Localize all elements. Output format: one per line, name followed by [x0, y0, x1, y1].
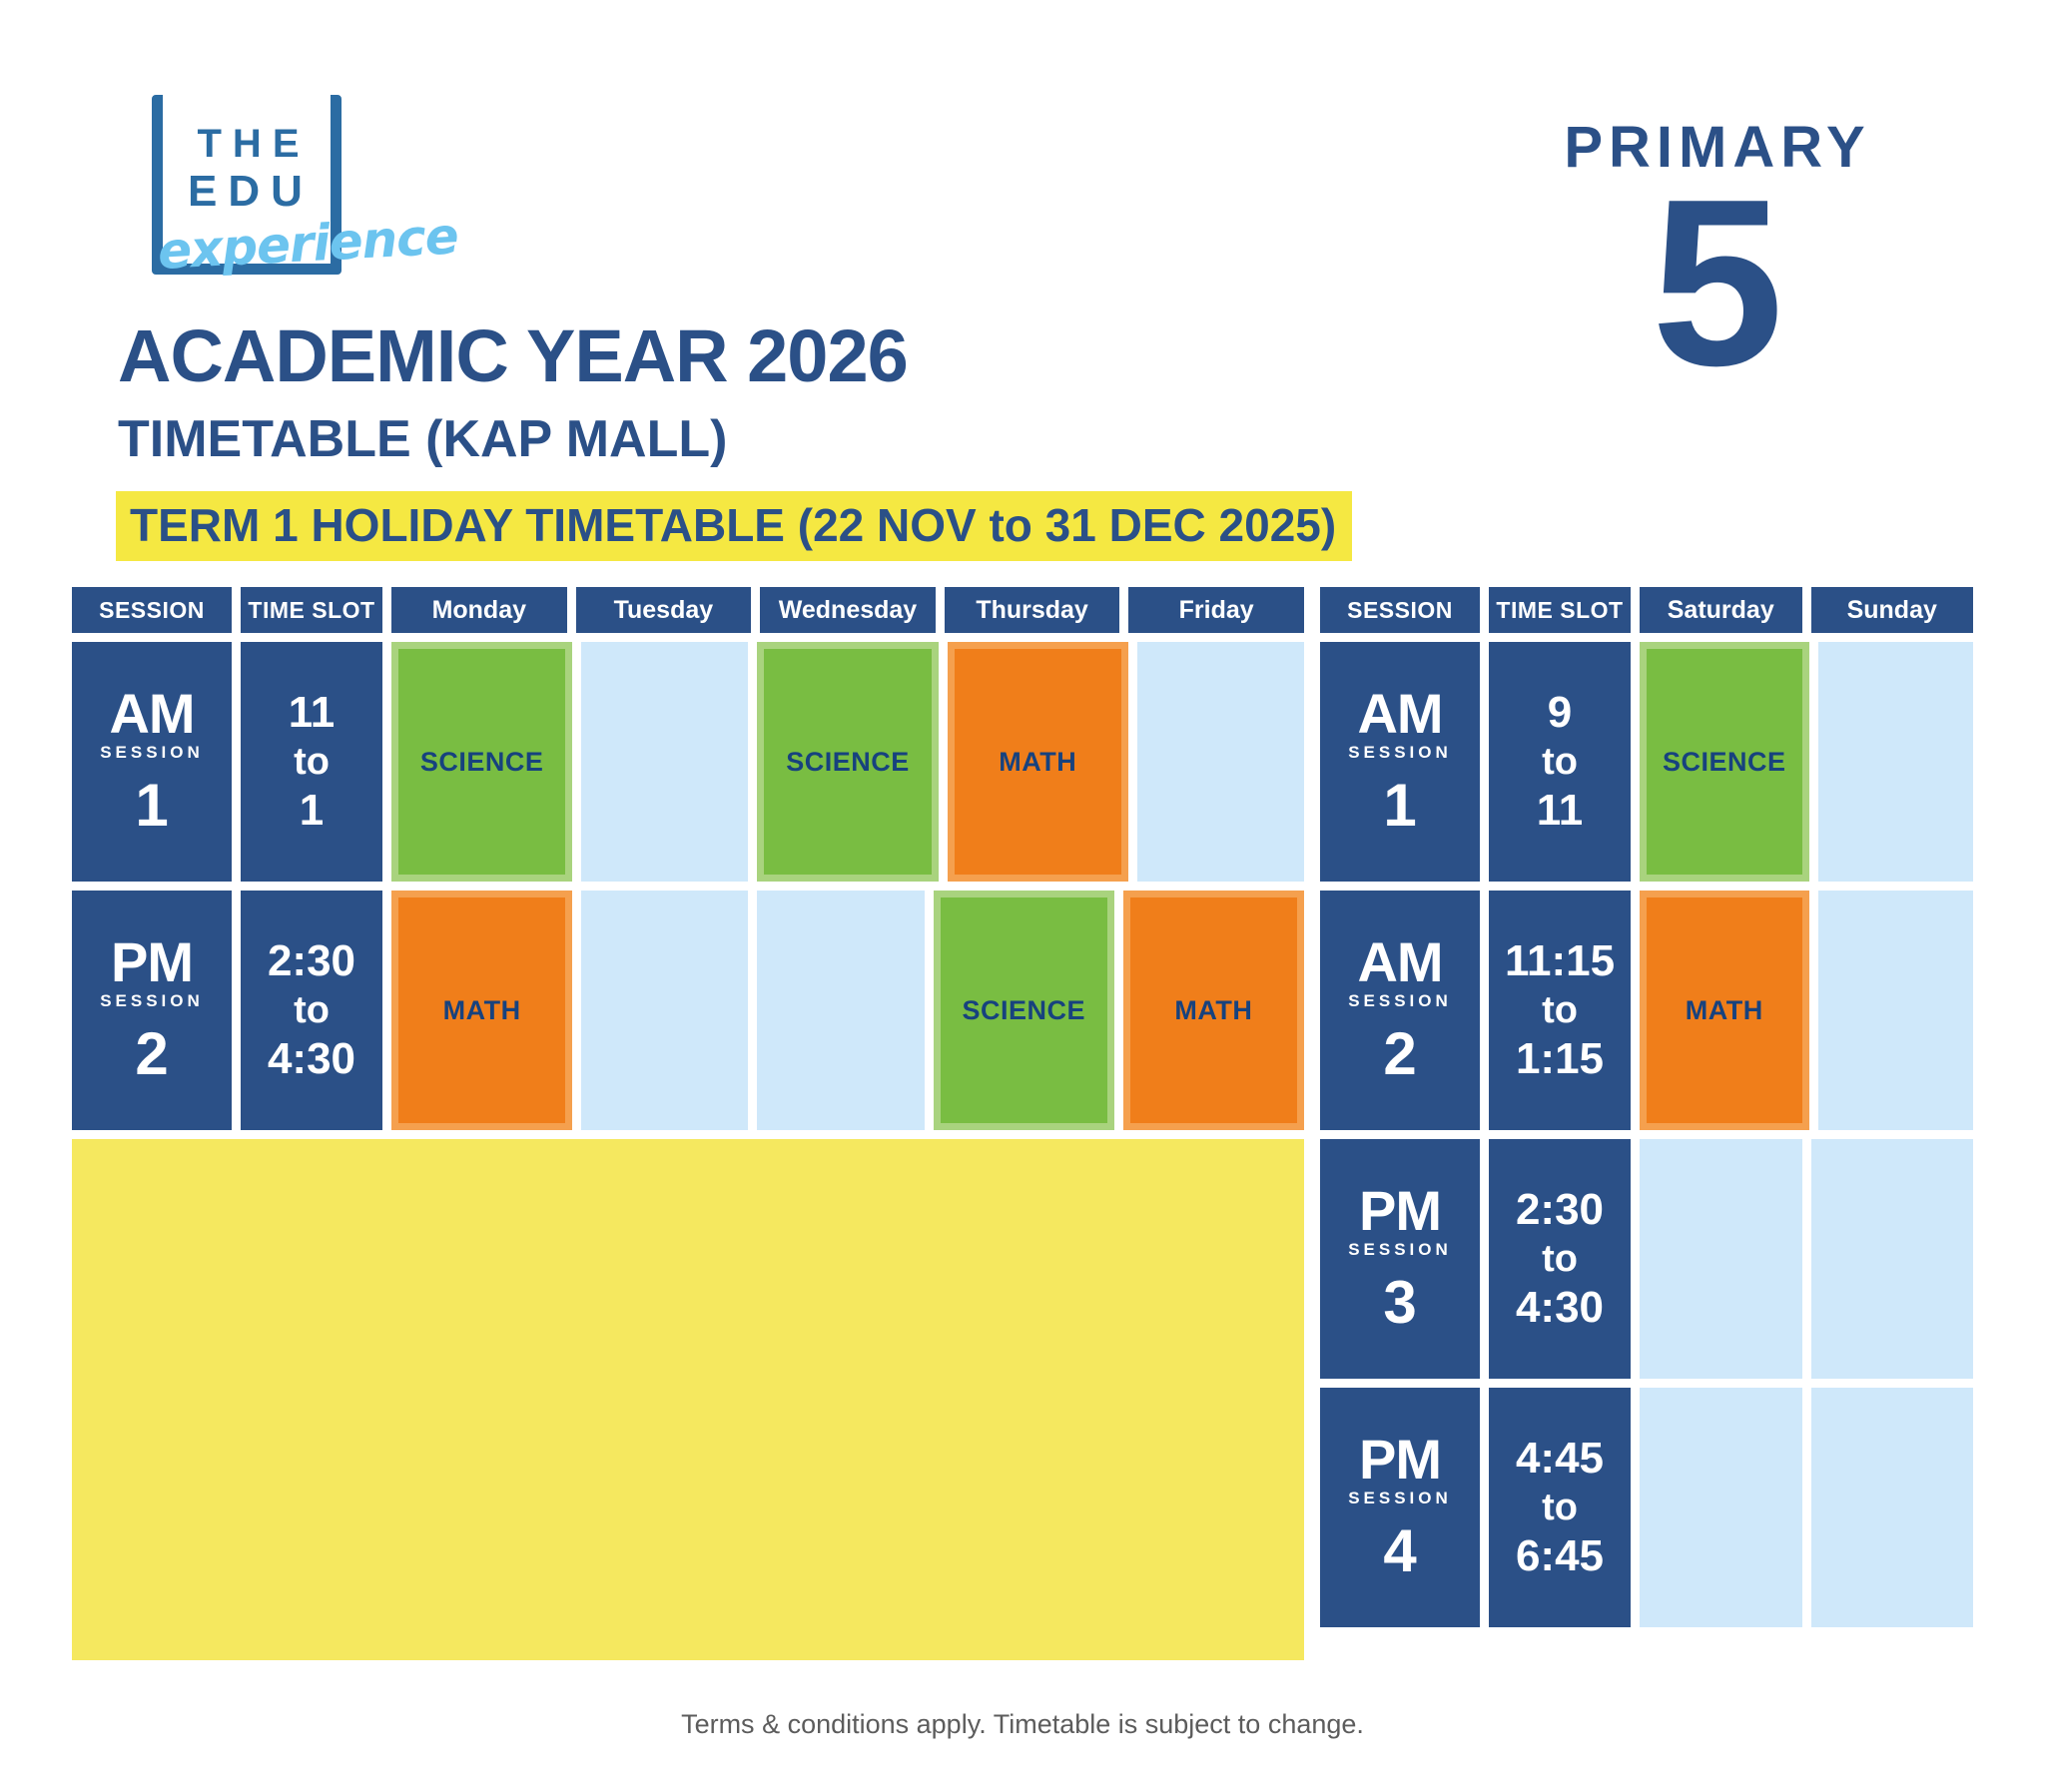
time-start: 4:45: [1516, 1434, 1604, 1484]
time-to: to: [1542, 986, 1578, 1034]
table-row: PM SESSION 2 2:30 to 4:30 MATH SCIENCE M…: [72, 891, 1304, 1130]
session-cell: PM SESSION 3: [1320, 1139, 1480, 1379]
footer-note: Terms & conditions apply. Timetable is s…: [0, 1709, 2045, 1740]
time-end: 11: [1537, 786, 1584, 836]
weekend-header-row: SESSION TIME SLOT Saturday Sunday: [1320, 587, 1973, 633]
time-end: 1: [300, 786, 324, 836]
subject-cell-friday[interactable]: [1137, 642, 1304, 882]
subject-cell-monday[interactable]: SCIENCE: [391, 642, 572, 882]
header-friday: Friday: [1128, 587, 1304, 633]
subtitle-branch: (KAP MALL): [425, 410, 727, 468]
subject-cell-wednesday[interactable]: SCIENCE: [757, 642, 938, 882]
subject-cell-saturday[interactable]: [1640, 1388, 1802, 1627]
session-cell: PM SESSION 4: [1320, 1388, 1480, 1627]
session-ampm: PM: [1359, 1185, 1441, 1237]
time-to: to: [294, 738, 330, 786]
subject-cell-sunday[interactable]: [1818, 891, 1974, 1130]
subject-cell-sunday[interactable]: [1818, 642, 1974, 882]
time-start: 11: [289, 688, 336, 738]
session-cell: PM SESSION 2: [72, 891, 232, 1130]
session-word: SESSION: [100, 990, 204, 1012]
subject-cell-friday[interactable]: MATH: [1123, 891, 1304, 1130]
session-ampm: PM: [1359, 1434, 1441, 1486]
session-word: SESSION: [1348, 1239, 1452, 1261]
time-end: 4:30: [268, 1034, 355, 1084]
time-to: to: [1542, 1235, 1578, 1283]
logo-text-experience: experience: [157, 211, 389, 281]
time-to: to: [1542, 738, 1578, 786]
time-slot-cell: 9 to 11: [1489, 642, 1631, 882]
subject-cell-wednesday[interactable]: [757, 891, 924, 1130]
grade-number: 5: [1508, 184, 1927, 383]
time-slot-cell: 2:30 to 4:30: [1489, 1139, 1631, 1379]
table-row: AM SESSION 1 11 to 1 SCIENCE SCIENCE MAT…: [72, 642, 1304, 882]
time-slot-cell: 11 to 1: [241, 642, 382, 882]
yellow-filler-block: [72, 1139, 1304, 1660]
time-end: 1:15: [1516, 1034, 1604, 1084]
time-start: 2:30: [1516, 1185, 1604, 1235]
session-number: 1: [1383, 776, 1416, 836]
session-ampm: AM: [1357, 936, 1442, 988]
header-monday: Monday: [391, 587, 567, 633]
subject-cell-tuesday[interactable]: [581, 642, 748, 882]
session-ampm: AM: [109, 688, 194, 740]
table-row: AM SESSION 1 9 to 11 SCIENCE: [1320, 642, 1973, 882]
subject-cell-sunday[interactable]: [1811, 1388, 1974, 1627]
time-start: 9: [1548, 688, 1572, 738]
session-number: 2: [135, 1024, 168, 1084]
time-slot-cell: 11:15 to 1:15: [1489, 891, 1631, 1130]
subject-cell-saturday[interactable]: MATH: [1640, 891, 1809, 1130]
logo-frame-gap: [163, 93, 331, 109]
subtitle-plain: TIMETABLE: [118, 410, 425, 468]
time-start: 2:30: [268, 936, 355, 986]
header-tuesday: Tuesday: [576, 587, 752, 633]
header-time-slot: TIME SLOT: [241, 587, 382, 633]
time-to: to: [294, 986, 330, 1034]
header-sunday: Sunday: [1811, 587, 1974, 633]
weekend-table: SESSION TIME SLOT Saturday Sunday AM SES…: [1320, 587, 1973, 1627]
time-to: to: [1542, 1484, 1578, 1531]
session-number: 4: [1383, 1521, 1416, 1581]
session-number: 3: [1383, 1273, 1416, 1333]
header-session: SESSION: [1320, 587, 1480, 633]
subject-cell-saturday[interactable]: [1640, 1139, 1802, 1379]
poster-header: THE EDU experience ACADEMIC YEAR 2026 TI…: [0, 0, 2045, 579]
grade-badge: PRIMARY 5: [1508, 118, 1927, 383]
session-number: 1: [135, 776, 168, 836]
time-end: 4:30: [1516, 1283, 1604, 1333]
session-cell: AM SESSION 2: [1320, 891, 1480, 1130]
logo-text-edu: EDU: [176, 169, 326, 215]
time-slot-cell: 4:45 to 6:45: [1489, 1388, 1631, 1627]
page-subtitle: TIMETABLE (KAP MALL): [118, 411, 727, 467]
time-start: 11:15: [1505, 936, 1615, 986]
weekday-header-row: SESSION TIME SLOT Monday Tuesday Wednesd…: [72, 587, 1304, 633]
weekday-table: SESSION TIME SLOT Monday Tuesday Wednesd…: [72, 587, 1304, 1660]
table-row: PM SESSION 4 4:45 to 6:45: [1320, 1388, 1973, 1627]
table-row: PM SESSION 3 2:30 to 4:30: [1320, 1139, 1973, 1379]
session-ampm: AM: [1357, 688, 1442, 740]
session-cell: AM SESSION 1: [1320, 642, 1480, 882]
subject-cell-thursday[interactable]: MATH: [948, 642, 1128, 882]
subject-cell-sunday[interactable]: [1811, 1139, 1974, 1379]
session-number: 2: [1383, 1024, 1416, 1084]
subject-cell-saturday[interactable]: SCIENCE: [1640, 642, 1809, 882]
time-end: 6:45: [1516, 1531, 1604, 1581]
subject-cell-monday[interactable]: MATH: [391, 891, 572, 1130]
session-cell: AM SESSION 1: [72, 642, 232, 882]
session-word: SESSION: [100, 742, 204, 764]
session-word: SESSION: [1348, 990, 1452, 1012]
table-row: AM SESSION 2 11:15 to 1:15 MATH: [1320, 891, 1973, 1130]
session-word: SESSION: [1348, 742, 1452, 764]
logo-text-the: THE: [179, 123, 329, 165]
header-thursday: Thursday: [945, 587, 1120, 633]
session-ampm: PM: [111, 936, 193, 988]
header-time-slot: TIME SLOT: [1489, 587, 1631, 633]
page-title: ACADEMIC YEAR 2026: [118, 317, 908, 395]
session-word: SESSION: [1348, 1488, 1452, 1509]
timetable-poster: THE EDU experience ACADEMIC YEAR 2026 TI…: [0, 0, 2045, 1792]
term-banner: TERM 1 HOLIDAY TIMETABLE (22 NOV to 31 D…: [116, 491, 1352, 561]
time-slot-cell: 2:30 to 4:30: [241, 891, 382, 1130]
subject-cell-thursday[interactable]: SCIENCE: [934, 891, 1114, 1130]
brand-logo: THE EDU experience: [152, 95, 361, 280]
header-saturday: Saturday: [1640, 587, 1802, 633]
subject-cell-tuesday[interactable]: [581, 891, 748, 1130]
header-session: SESSION: [72, 587, 232, 633]
header-wednesday: Wednesday: [760, 587, 936, 633]
